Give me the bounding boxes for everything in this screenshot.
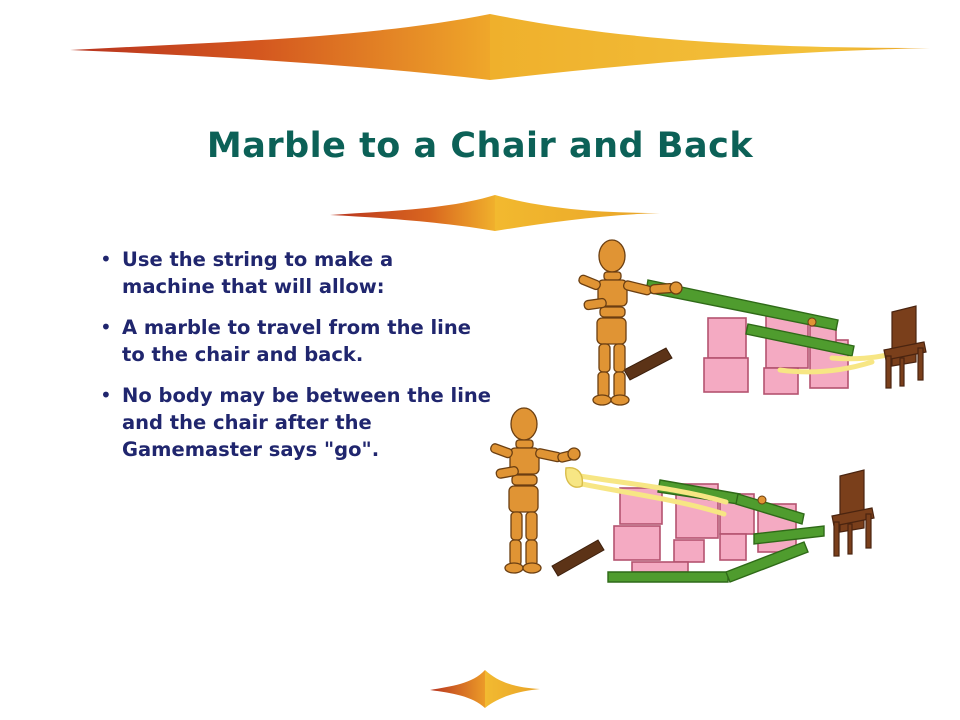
bullet-text: A marble to travel from the line to the … bbox=[122, 314, 492, 368]
list-item: • No body may be between the line and th… bbox=[96, 382, 516, 463]
bullet-text: No body may be between the line and the … bbox=[122, 382, 492, 463]
bullet-marker-icon: • bbox=[96, 382, 122, 409]
bottom-ornament-bar bbox=[430, 668, 540, 712]
slide-canvas: Marble to a Chair and Back • Use the bbox=[0, 0, 960, 720]
page-title: Marble to a Chair and Back bbox=[0, 126, 960, 166]
top-ornament-bar bbox=[70, 8, 930, 86]
list-item: • A marble to travel from the line to th… bbox=[96, 314, 516, 368]
chair-upper bbox=[884, 306, 926, 388]
middle-ornament-bar bbox=[330, 193, 660, 235]
bullet-list: • Use the string to make a machine that … bbox=[96, 246, 516, 477]
chair-lower bbox=[832, 470, 874, 556]
upper-scene bbox=[578, 240, 926, 405]
bullet-marker-icon: • bbox=[96, 246, 122, 273]
lower-scene bbox=[490, 408, 874, 582]
bullet-text: Use the string to make a machine that wi… bbox=[122, 246, 492, 300]
marble-machine-diagram: .blk { fill:#f4aac2; stroke:#b4536f; str… bbox=[480, 230, 950, 600]
bullet-marker-icon: • bbox=[96, 314, 122, 341]
mannequin-figure-lower bbox=[490, 408, 580, 573]
list-item: • Use the string to make a machine that … bbox=[96, 246, 516, 300]
